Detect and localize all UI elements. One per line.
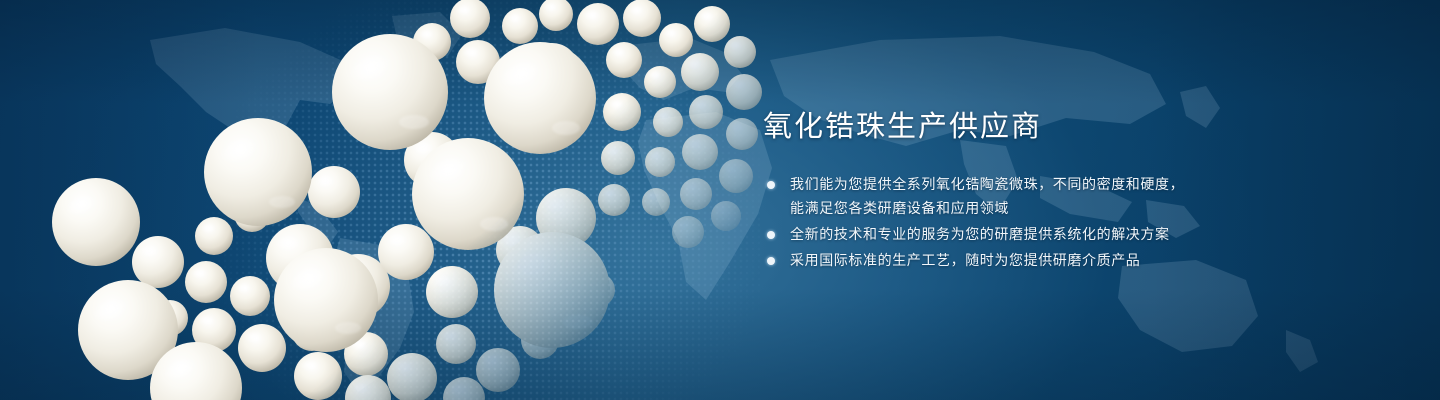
bullet-text-line-1: 全新的技术和专业的服务为您的研磨提供系统化的解决方案 <box>790 226 1170 242</box>
bullet-dot-icon <box>767 181 775 189</box>
bullet-text-line-1: 采用国际标准的生产工艺，随时为您提供研磨介质产品 <box>790 252 1140 268</box>
bullet-dot-icon <box>767 231 775 239</box>
list-item: 全新的技术和专业的服务为您的研磨提供系统化的解决方案 <box>763 222 1383 246</box>
list-item: 我们能为您提供全系列氧化锆陶瓷微珠，不同的密度和硬度， 能满足您各类研磨设备和应… <box>763 172 1383 220</box>
feature-bullet-list: 我们能为您提供全系列氧化锆陶瓷微珠，不同的密度和硬度， 能满足您各类研磨设备和应… <box>763 172 1383 272</box>
bullet-text-line-2: 能满足您各类研磨设备和应用领域 <box>790 196 1383 220</box>
bullet-text-line-1: 我们能为您提供全系列氧化锆陶瓷微珠，不同的密度和硬度， <box>790 176 1184 192</box>
bullet-dot-icon <box>767 257 775 265</box>
banner-copy-block: 氧化锆珠生产供应商 我们能为您提供全系列氧化锆陶瓷微珠，不同的密度和硬度， 能满… <box>763 108 1383 274</box>
hero-banner: 氧化锆珠生产供应商 我们能为您提供全系列氧化锆陶瓷微珠，不同的密度和硬度， 能满… <box>0 0 1440 400</box>
banner-headline: 氧化锆珠生产供应商 <box>763 108 1383 146</box>
zirconia-beads-image <box>0 0 780 400</box>
list-item: 采用国际标准的生产工艺，随时为您提供研磨介质产品 <box>763 248 1383 272</box>
